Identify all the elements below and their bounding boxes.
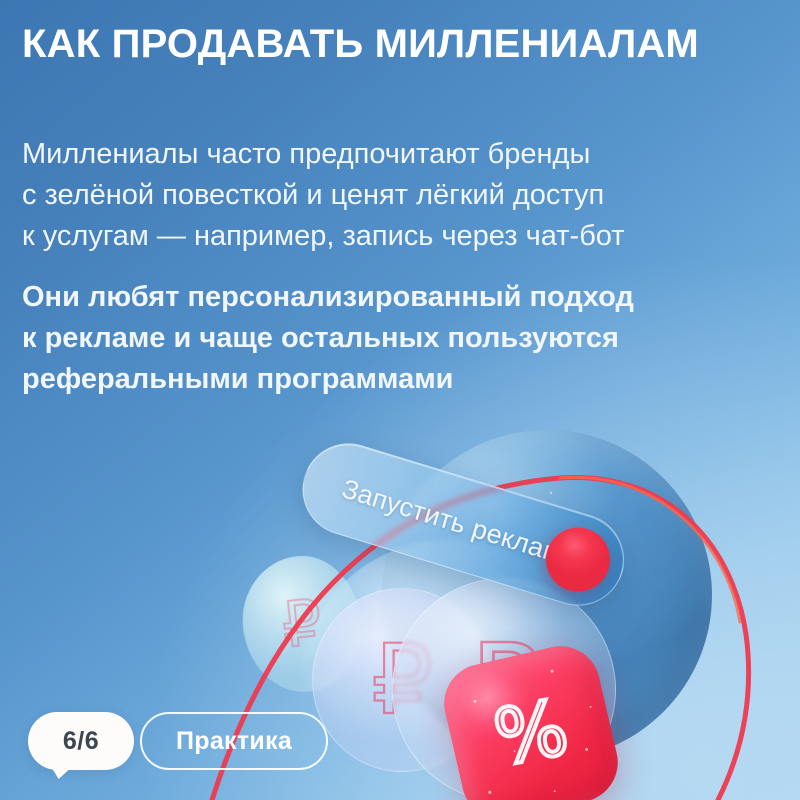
launch-ad-button[interactable]: Запустить рекламу [291,432,635,617]
page-title: КАК ПРОДАВАТЬ МИЛЛЕНИАЛАМ [22,22,722,68]
ruble-disc-small: ₽ [236,550,368,698]
percent-card: % [436,638,625,800]
intro-line-3: к услугам — например, запись через чат-б… [22,216,762,257]
intro-paragraph: Миллениалы часто предпочитают бренды с з… [22,134,762,258]
ruble-icon: ₽ [279,591,325,657]
highlight-line-2: к рекламе и чаще остальных пользуются [22,318,762,359]
ruble-icon: ₽ [466,630,542,750]
category-tag-practice[interactable]: Практика [140,712,328,770]
ruble-disc-medium: ₽ [312,588,492,772]
ruble-disc-large: ₽ [392,578,616,800]
launch-ad-label: Запустить рекламу [329,444,543,589]
highlight-paragraph: Они любят персонализированный подход к р… [22,277,762,401]
ruble-icon: ₽ [371,632,432,728]
intro-line-1: Миллениалы часто предпочитают бренды [22,134,762,175]
slide-canvas: ₽ ₽ ₽ % Запустить рекламу КАК ПРОДАВАТЬ [0,0,800,800]
highlight-line-1: Они любят персонализированный подход [22,277,762,318]
slide-counter-badge: 6/6 [28,712,134,770]
intro-line-2: с зелёной повесткой и ценят лёгкий досту… [22,175,762,216]
highlight-line-3: реферальными программами [22,359,762,400]
percent-icon: % [489,689,573,776]
